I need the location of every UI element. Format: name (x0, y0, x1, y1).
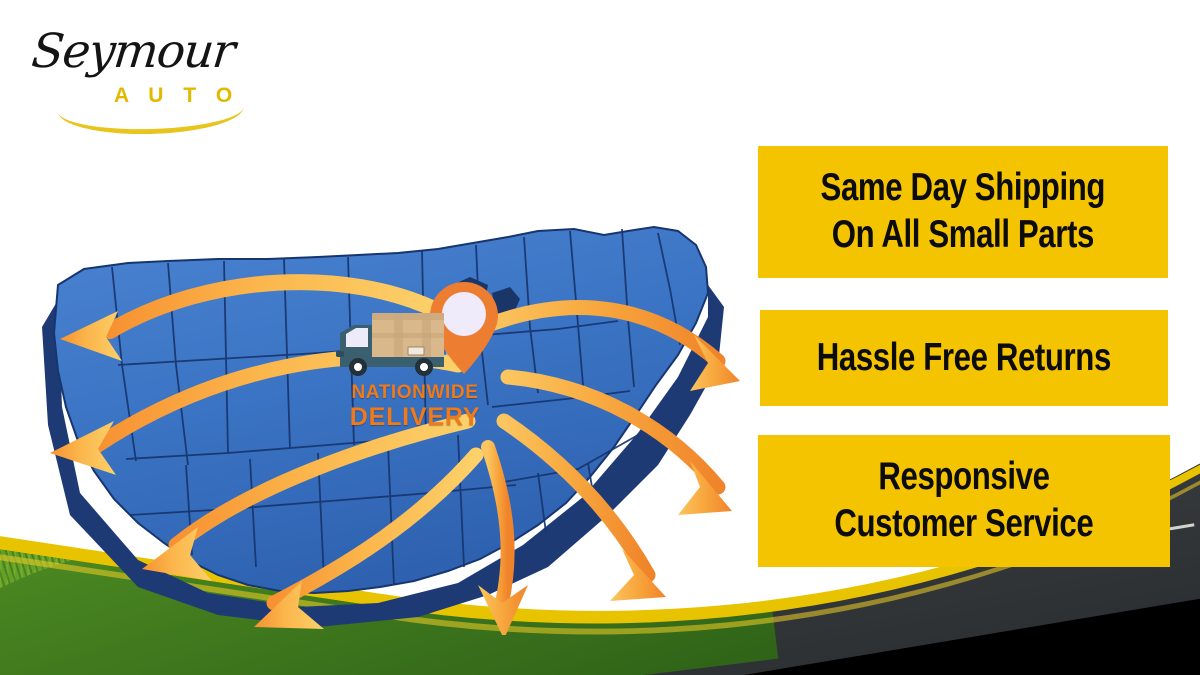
logo-auto-text: A U T O (114, 84, 239, 108)
delivery-label: DELIVERY (325, 405, 505, 430)
feature-line: Responsive (878, 457, 1049, 498)
delivery-truck-icon (336, 307, 456, 379)
feature-line: Same Day Shipping (821, 168, 1105, 209)
feature-box-same-day-shipping[interactable]: Same Day Shipping On All Small Parts (758, 146, 1168, 278)
feature-box-responsive-customer-service[interactable]: Responsive Customer Service (758, 435, 1170, 567)
brand-logo[interactable]: Seymour A U T O (28, 22, 243, 122)
promo-banner: Seymour A U T O (0, 0, 1200, 675)
feature-line: Customer Service (835, 504, 1094, 545)
feature-line: On All Small Parts (832, 215, 1094, 256)
nationwide-label: NATIONWIDE (325, 383, 505, 402)
logo-script-wordmark: Seymour (29, 24, 236, 79)
nationwide-delivery-badge: NATIONWIDE DELIVERY (330, 275, 500, 450)
feature-line: Hassle Free Returns (817, 338, 1111, 379)
feature-box-hassle-free-returns[interactable]: Hassle Free Returns (760, 310, 1168, 406)
